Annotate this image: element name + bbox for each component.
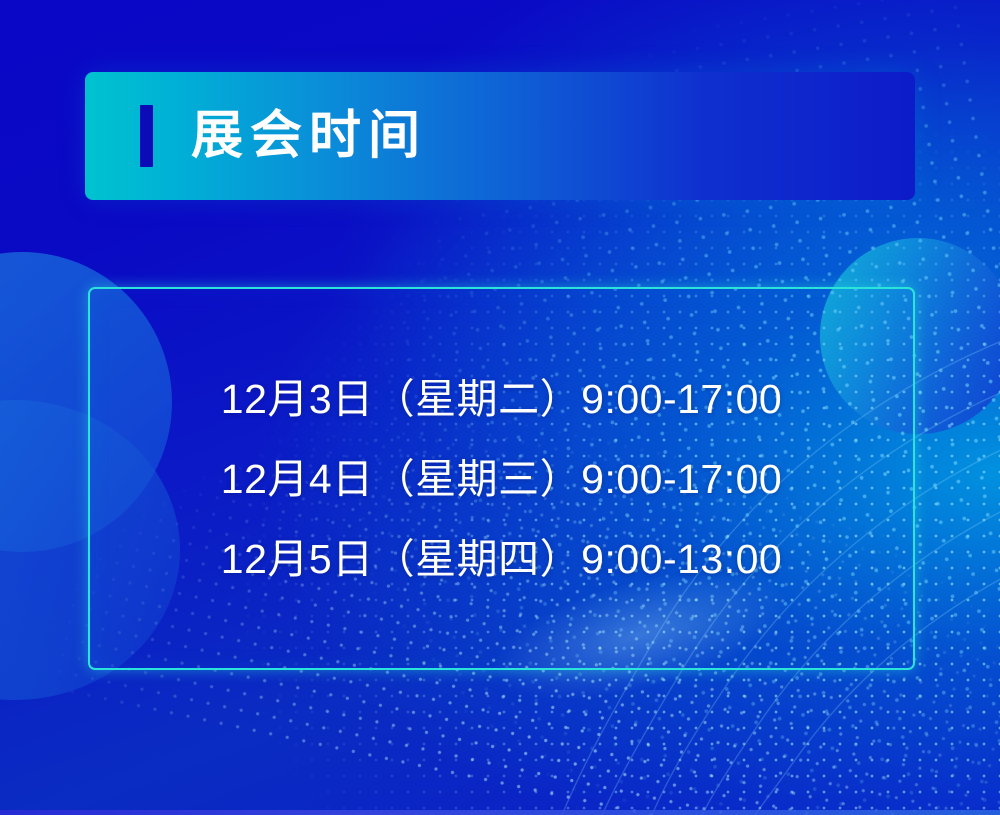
header-accent-bar	[140, 105, 153, 167]
exhibition-time-poster: 展会时间 12月3日（星期二）9:00-17:00 12月4日（星期三）9:00…	[0, 0, 1000, 815]
page-title: 展会时间	[191, 110, 427, 162]
list-item: 12月5日（星期四）9:00-13:00	[221, 519, 782, 599]
section-header-banner: 展会时间	[85, 72, 915, 200]
list-item: 12月3日（星期二）9:00-17:00	[221, 359, 782, 439]
list-item: 12月4日（星期三）9:00-17:00	[221, 439, 782, 519]
schedule-card: 12月3日（星期二）9:00-17:00 12月4日（星期三）9:00-17:0…	[88, 287, 915, 670]
schedule-list: 12月3日（星期二）9:00-17:00 12月4日（星期三）9:00-17:0…	[221, 359, 782, 599]
bottom-edge-strip	[0, 810, 1000, 815]
